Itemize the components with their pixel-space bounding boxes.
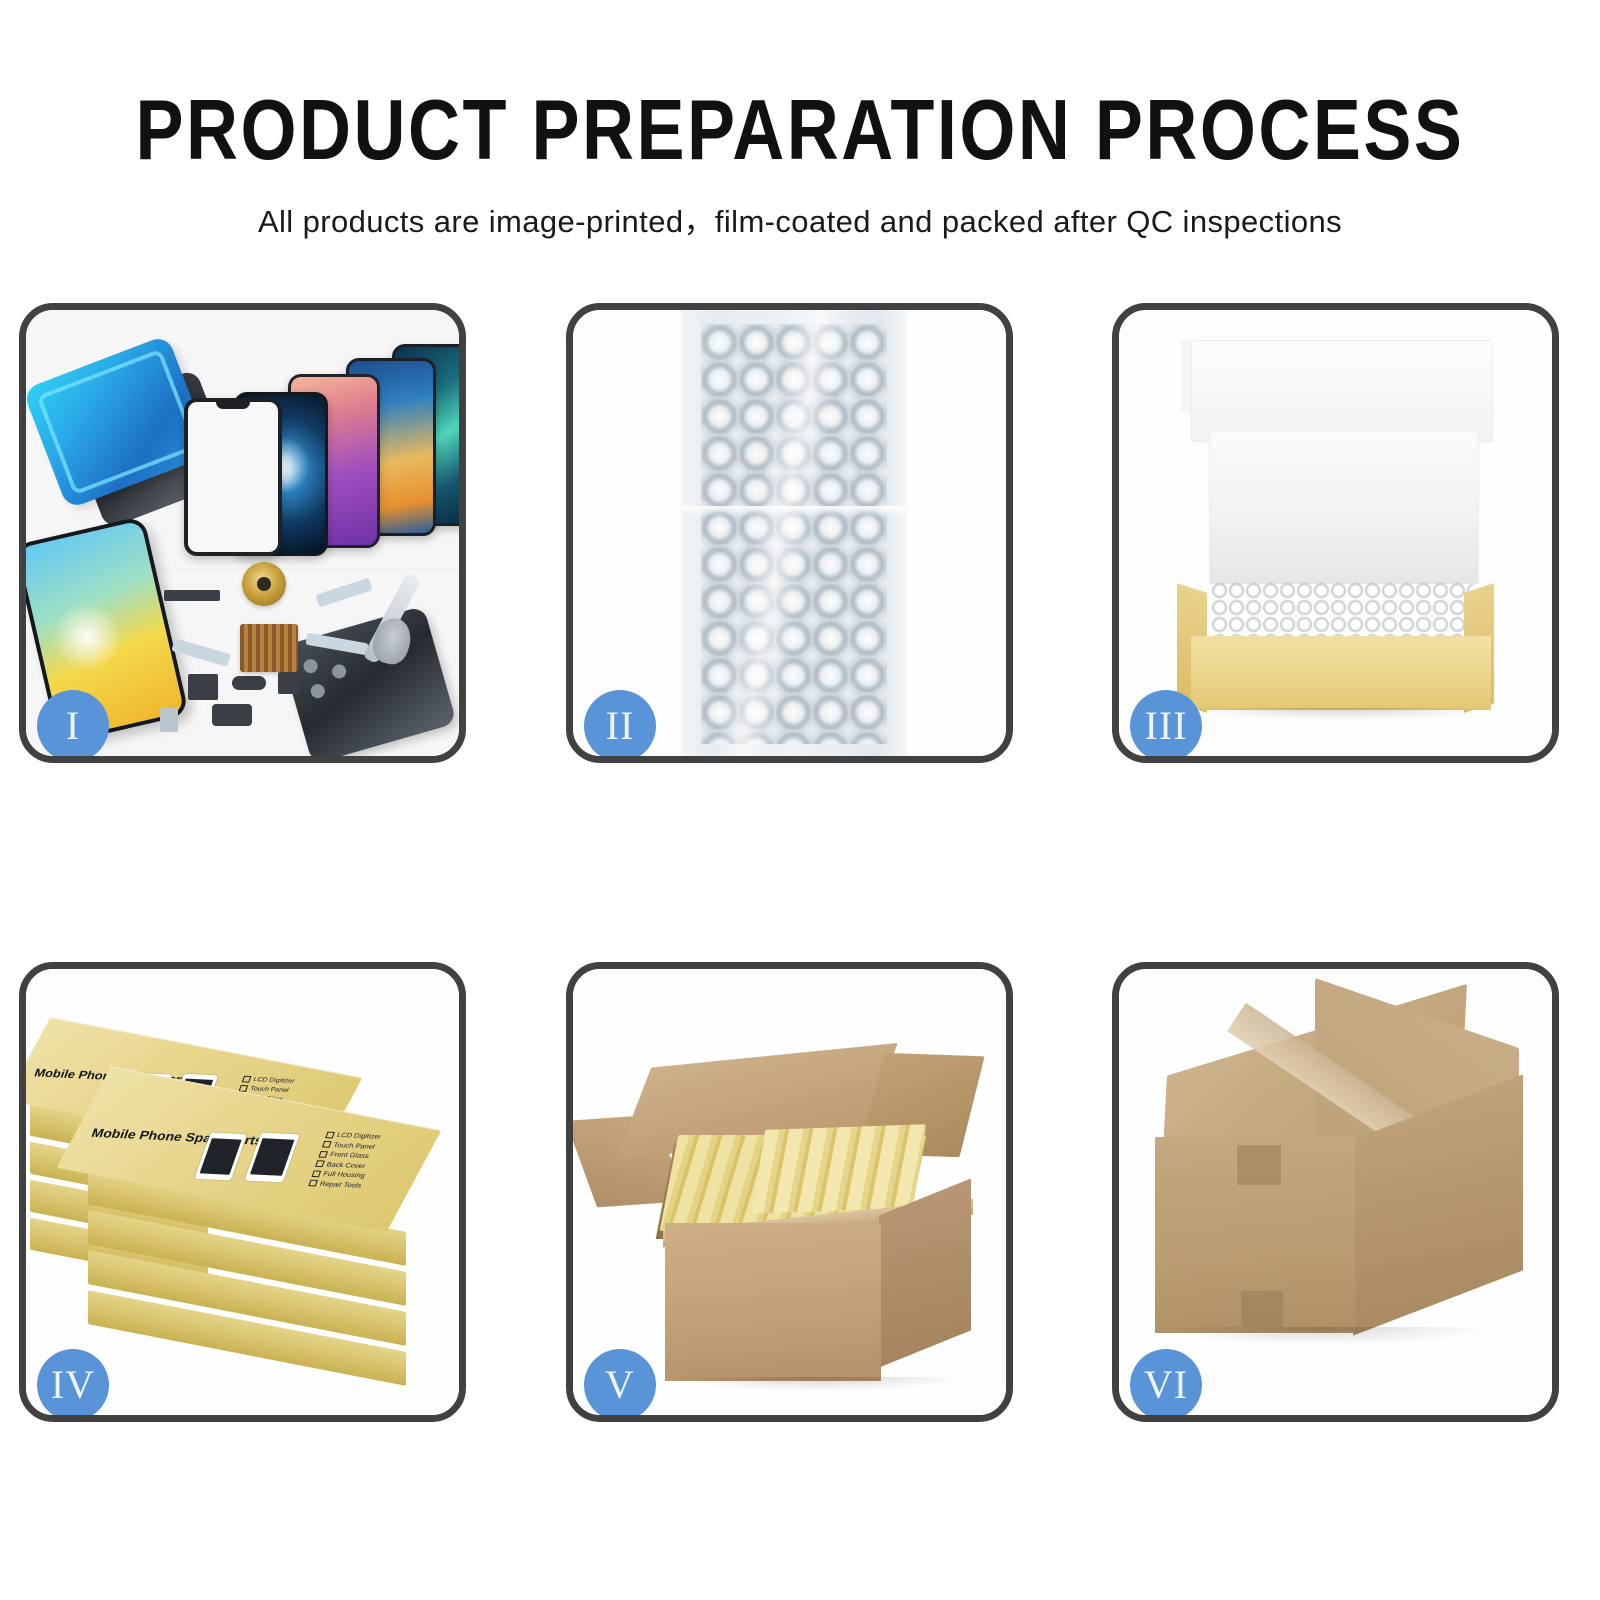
bubble-wrapped-contents — [1211, 582, 1473, 640]
scene-sealed-carton — [1119, 969, 1552, 1415]
scene-bubble-wrap — [573, 310, 1006, 756]
charging-port-part — [212, 704, 252, 726]
step-panel-1: I — [19, 303, 466, 763]
step-badge-1: I — [37, 690, 109, 762]
step-badge-6: VI — [1130, 1349, 1202, 1421]
step-panel-6: VI — [1112, 962, 1559, 1422]
gold-box-checklist-front: LCD Digitizer Touch Panel Front Glass Ba… — [307, 1131, 382, 1192]
mailer-inner-back — [1209, 432, 1479, 584]
gold-box-stack: Mobile Phone Spare Parts LCD Digitizer T… — [26, 969, 459, 1415]
carton-tab-upper — [1237, 1145, 1281, 1185]
wireless-charging-coil-part — [242, 562, 286, 606]
mailer-front-wall — [1191, 636, 1491, 710]
vibrator-part — [232, 676, 266, 690]
mailer-lid — [1191, 340, 1493, 442]
camera-module-part — [188, 674, 218, 700]
flex-cable-part-2 — [305, 633, 368, 656]
speaker-part — [278, 672, 300, 694]
step-panel-2: II — [566, 303, 1013, 763]
scene-boxed-stack: Mobile Phone Spare Parts LCD Digitizer T… — [26, 969, 459, 1415]
scene-mailer-box — [1119, 310, 1552, 756]
step-panel-3: III — [1112, 303, 1559, 763]
gold-boxes-in-carton-row2 — [752, 1124, 926, 1214]
phone-screen-fan — [178, 340, 459, 555]
carton-shadow — [669, 1377, 969, 1391]
scene-carton-filling — [573, 969, 1006, 1415]
front-glass-panel — [184, 398, 282, 556]
checklist-item: Repair Tools — [307, 1179, 365, 1191]
step-badge-5: V — [584, 1349, 656, 1421]
carton-front-wall — [665, 1223, 881, 1381]
flex-cable-part-3 — [171, 638, 230, 666]
step-panel-4: Mobile Phone Spare Parts LCD Digitizer T… — [19, 962, 466, 1422]
scene-product-parts — [26, 310, 459, 756]
step-badge-2: II — [584, 690, 656, 762]
bubble-wrap-highlight — [681, 310, 907, 756]
flex-cable-part-1 — [315, 578, 372, 608]
mailer-shadow — [1193, 708, 1489, 720]
carton-tab-lower — [1241, 1291, 1283, 1327]
step-badge-4: IV — [37, 1349, 109, 1421]
step-panel-5: V — [566, 962, 1013, 1422]
small-parts-cluster — [154, 562, 404, 742]
sealed-carton-shadow — [1159, 1327, 1489, 1345]
sim-tray-part — [160, 708, 178, 732]
infographic-page: PRODUCT PREPARATION PROCESS All products… — [0, 0, 1600, 1600]
steps-grid: I II — [0, 0, 1600, 1600]
ic-chip-part — [240, 624, 298, 672]
earpiece-mesh-part — [164, 590, 220, 601]
step-badge-3: III — [1130, 690, 1202, 762]
